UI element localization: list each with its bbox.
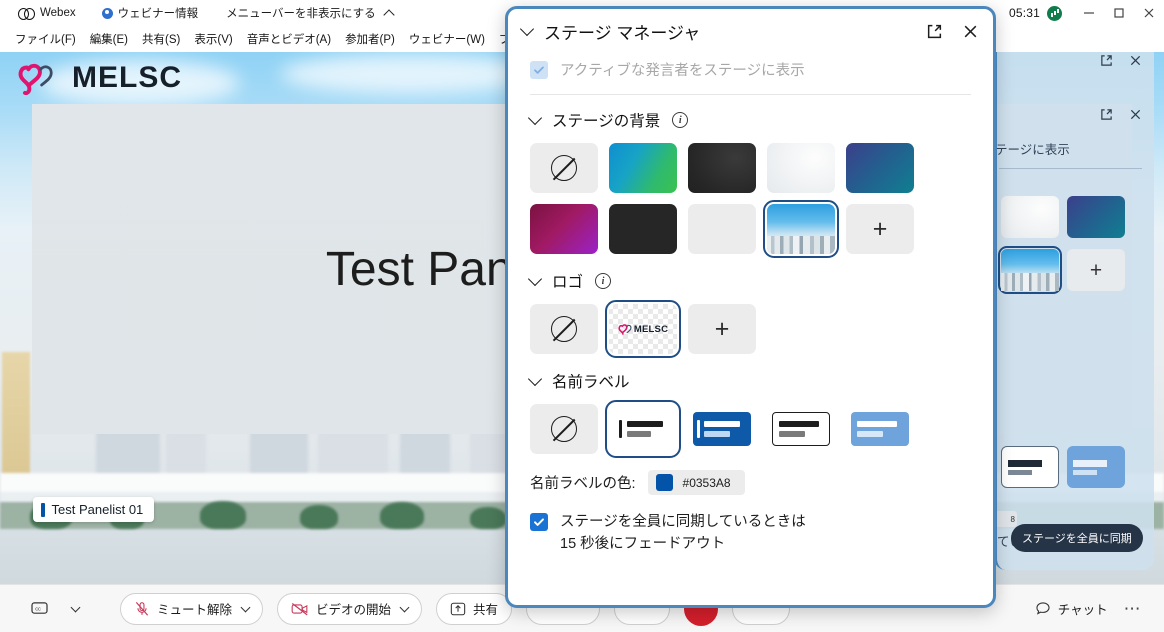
menu-item-audio-video[interactable]: 音声とビデオ(A) bbox=[240, 28, 338, 50]
background-collapse-chevron-icon[interactable] bbox=[528, 110, 542, 124]
name-label-section-header[interactable]: 名前ラベル bbox=[530, 370, 971, 392]
start-video-label: ビデオの開始 bbox=[316, 599, 391, 618]
background-option-deep-teal[interactable] bbox=[846, 143, 914, 193]
start-video-button[interactable]: ビデオの開始 bbox=[277, 593, 422, 625]
chat-label: チャット bbox=[1058, 599, 1108, 618]
name-label-option-none[interactable] bbox=[530, 404, 598, 454]
window-close-button[interactable] bbox=[1134, 0, 1164, 26]
fade-out-row[interactable]: ステージを全員に同期しているときは 15 秒後にフェードアウト bbox=[530, 511, 971, 556]
menu-item-view[interactable]: 表示(V) bbox=[187, 28, 239, 50]
fade-out-label: ステージを全員に同期しているときは 15 秒後にフェードアウト bbox=[560, 511, 806, 556]
logo-option-none[interactable] bbox=[530, 304, 598, 354]
name-label-option-white-accent[interactable] bbox=[609, 404, 677, 454]
chevron-up-icon bbox=[383, 9, 394, 20]
info-dot-icon bbox=[102, 8, 113, 19]
app-name-item: Webex bbox=[10, 5, 84, 21]
stage-manager-dialog: ステージ マネージャ アクティブな発言者をステージに表示 bbox=[505, 6, 996, 608]
stage-brand-label: MELSC bbox=[72, 61, 182, 95]
add-background-button[interactable]: + bbox=[846, 204, 914, 254]
name-label-color-label: 名前ラベルの色: bbox=[530, 472, 636, 493]
hide-menubar-button[interactable]: メニューバーを非表示にする bbox=[218, 3, 401, 23]
menu-item-webinar[interactable]: ウェビナー(W) bbox=[402, 28, 492, 50]
webex-window: Webex ウェビナー情報 メニューバーを非表示にする 05:31 bbox=[0, 0, 1164, 632]
background-stage-manager-panel[interactable]: テージに表示 + 8 ているときは ステージを全員に同期 bbox=[994, 46, 1154, 570]
active-speaker-label: アクティブな発言者をステージに表示 bbox=[560, 59, 805, 80]
start-video-chevron-icon[interactable] bbox=[400, 602, 410, 612]
menu-item-participants[interactable]: 参加者(P) bbox=[338, 28, 402, 50]
ghost-popout-icon-2[interactable] bbox=[1100, 108, 1113, 126]
ghost-color-chip[interactable]: 8 bbox=[994, 511, 1017, 527]
ghost-thumb-light[interactable] bbox=[1001, 196, 1059, 238]
logo-section-header[interactable]: ロゴ i bbox=[530, 270, 971, 292]
close-icon[interactable] bbox=[959, 20, 981, 42]
ghost-thumb-teal[interactable] bbox=[1067, 196, 1125, 238]
background-option-white[interactable] bbox=[688, 204, 756, 254]
ghost-nl-lightblue[interactable] bbox=[1067, 446, 1125, 488]
background-option-none[interactable] bbox=[530, 143, 598, 193]
melsc-heart-icon bbox=[18, 61, 60, 95]
webex-logo-icon bbox=[18, 8, 35, 18]
captions-menu-chevron-icon[interactable] bbox=[62, 596, 88, 622]
ghost-close-icon-2[interactable] bbox=[1129, 108, 1142, 126]
background-section-header[interactable]: ステージの背景 i bbox=[530, 109, 971, 131]
menu-item-file[interactable]: ファイル(F) bbox=[8, 28, 83, 50]
network-signal-icon[interactable] bbox=[1047, 6, 1062, 21]
unmute-chevron-icon[interactable] bbox=[241, 602, 251, 612]
name-label-color-row: 名前ラベルの色: #0353A8 bbox=[530, 470, 971, 495]
decorative-building bbox=[2, 352, 30, 492]
collapse-chevron-icon[interactable] bbox=[520, 21, 534, 35]
name-label-collapse-chevron-icon[interactable] bbox=[528, 371, 542, 385]
add-logo-button[interactable]: + bbox=[688, 304, 756, 354]
logo-collapse-chevron-icon[interactable] bbox=[528, 271, 542, 285]
chat-bubble-icon bbox=[1035, 601, 1051, 617]
ghost-bg-row-2: + bbox=[1001, 249, 1125, 291]
fade-out-checkbox[interactable] bbox=[530, 513, 548, 531]
name-label-style-grid bbox=[530, 404, 971, 454]
background-option-light-silver[interactable] bbox=[767, 143, 835, 193]
window-maximize-button[interactable] bbox=[1104, 0, 1134, 26]
name-label-text: Test Panelist 01 bbox=[52, 502, 144, 517]
name-label-option-light-blue[interactable] bbox=[846, 404, 914, 454]
unmute-label: ミュート解除 bbox=[157, 599, 232, 618]
app-name-label: Webex bbox=[40, 7, 76, 19]
menu-item-share[interactable]: 共有(S) bbox=[135, 28, 187, 50]
share-icon bbox=[450, 601, 466, 617]
ghost-popout-icon[interactable] bbox=[1100, 54, 1113, 72]
logo-thumbnail-grid: MELSC + bbox=[530, 304, 971, 354]
ghost-nl-outline[interactable] bbox=[1001, 446, 1059, 488]
fade-out-label-line2: 15 秒後にフェードアウト bbox=[560, 536, 725, 552]
logo-option-melsc-selected[interactable]: MELSC bbox=[609, 304, 677, 354]
name-label-option-solid-blue[interactable] bbox=[688, 404, 756, 454]
camera-off-icon bbox=[291, 602, 309, 616]
no-logo-icon bbox=[551, 316, 577, 342]
ghost-add-background-button[interactable]: + bbox=[1067, 249, 1125, 291]
melsc-heart-icon-small bbox=[618, 323, 632, 336]
no-background-icon bbox=[551, 155, 577, 181]
clock: 05:31 bbox=[1009, 6, 1040, 20]
ghost-active-speaker-label: テージに表示 bbox=[995, 139, 1070, 158]
ghost-header-actions-2 bbox=[1100, 108, 1142, 126]
hide-menubar-label: メニューバーを非表示にする bbox=[226, 5, 376, 21]
dialog-title: ステージ マネージャ bbox=[544, 19, 700, 44]
webinar-info-button[interactable]: ウェビナー情報 bbox=[94, 3, 207, 23]
dialog-header: ステージ マネージャ bbox=[508, 9, 993, 53]
color-hex-value: #0353A8 bbox=[683, 476, 731, 490]
background-option-gradient-blue-green[interactable] bbox=[609, 143, 677, 193]
ghost-divider bbox=[999, 168, 1142, 169]
ghost-thumb-city-selected[interactable] bbox=[1001, 249, 1059, 291]
logo-info-icon[interactable]: i bbox=[595, 273, 611, 289]
svg-text:cc: cc bbox=[35, 606, 41, 612]
ghost-header-actions bbox=[1100, 54, 1142, 72]
background-section-title: ステージの背景 bbox=[552, 109, 660, 131]
background-thumbnail-grid: + bbox=[530, 143, 950, 254]
logo-section-title: ロゴ bbox=[552, 270, 583, 292]
name-label-option-white-outline[interactable] bbox=[767, 404, 835, 454]
active-speaker-row[interactable]: アクティブな発言者をステージに表示 bbox=[530, 53, 971, 94]
logo-thumb-text: MELSC bbox=[634, 324, 668, 335]
background-option-black[interactable] bbox=[609, 204, 677, 254]
overflow-menu-button[interactable]: ⋯ bbox=[1124, 604, 1142, 614]
participant-name-label: Test Panelist 01 bbox=[33, 497, 154, 522]
name-label-color-picker[interactable]: #0353A8 bbox=[648, 470, 745, 495]
background-option-cityscape-selected[interactable] bbox=[767, 204, 835, 254]
sync-stage-for-all-button[interactable]: ステージを全員に同期 bbox=[1011, 524, 1143, 552]
captions-icon[interactable]: cc bbox=[26, 596, 52, 622]
share-button[interactable]: 共有 bbox=[436, 593, 512, 625]
chat-button[interactable]: チャット bbox=[1035, 599, 1108, 618]
unmute-button[interactable]: ミュート解除 bbox=[120, 593, 263, 625]
no-name-label-icon bbox=[551, 416, 577, 442]
background-info-icon[interactable]: i bbox=[672, 112, 688, 128]
name-label-accent-bar bbox=[41, 503, 45, 517]
background-option-dark-charcoal[interactable] bbox=[688, 143, 756, 193]
background-option-magenta-purple[interactable] bbox=[530, 204, 598, 254]
name-label-section-title: 名前ラベル bbox=[552, 370, 630, 392]
webinar-info-label: ウェビナー情報 bbox=[118, 5, 199, 21]
ghost-bg-row-1 bbox=[1001, 196, 1125, 238]
divider bbox=[530, 94, 971, 95]
window-minimize-button[interactable] bbox=[1074, 0, 1104, 26]
fade-out-label-line1: ステージを全員に同期しているときは bbox=[560, 514, 806, 530]
popout-icon[interactable] bbox=[923, 20, 945, 42]
active-speaker-checkbox[interactable] bbox=[530, 61, 548, 79]
share-label: 共有 bbox=[473, 599, 498, 618]
color-swatch bbox=[656, 474, 673, 491]
ghost-namelabel-row bbox=[1001, 446, 1125, 488]
ghost-close-icon[interactable] bbox=[1129, 54, 1142, 72]
mic-off-icon bbox=[134, 601, 150, 617]
menu-item-edit[interactable]: 編集(E) bbox=[83, 28, 135, 50]
